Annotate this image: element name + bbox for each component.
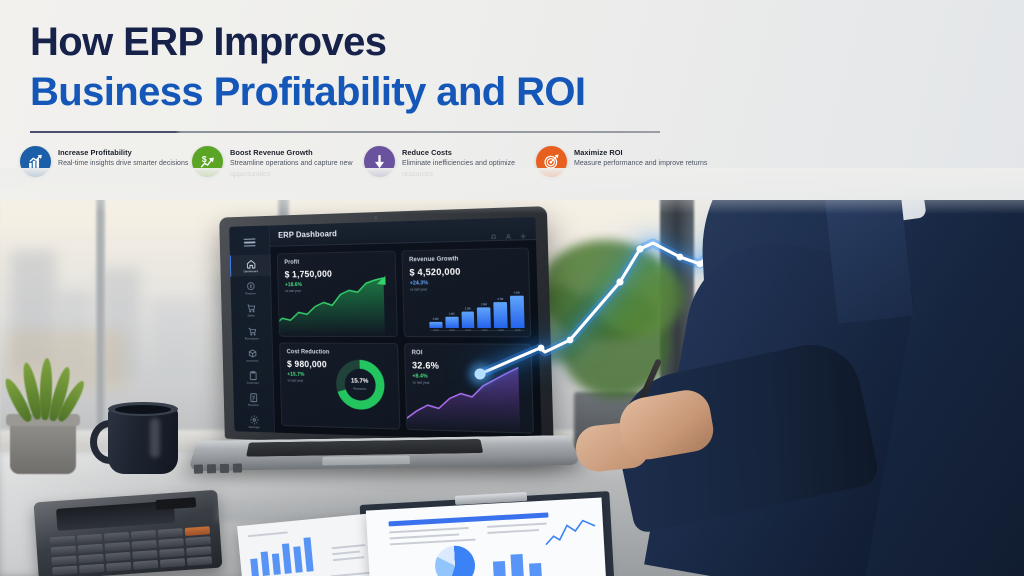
topbar-icons — [490, 225, 526, 232]
sidebar-item-inventory-2[interactable]: Inventory — [233, 366, 273, 388]
bar-value-label: 2.3M — [465, 308, 471, 311]
bar-value-label: 4.5M — [514, 292, 520, 295]
bar — [477, 308, 491, 328]
user-icon[interactable] — [505, 226, 511, 232]
bar-category-label: 2021 — [449, 329, 455, 332]
gear-icon — [249, 414, 259, 425]
bar — [494, 302, 508, 328]
sidebar-item-dashboard[interactable]: Dashboard — [229, 255, 271, 277]
sidebar-item-finance[interactable]: Finance — [230, 277, 270, 299]
skyline-blob — [150, 300, 202, 384]
headline-line-2: Business Profitability and ROI — [30, 70, 585, 114]
sidebar-item-inventory[interactable]: Inventory — [232, 344, 272, 366]
bar-group: 0.9M2020 — [428, 283, 442, 332]
calculator — [34, 490, 223, 576]
kpi-card-cost-reduction[interactable]: Cost Reduction $ 980,000 +15.7% vs last … — [279, 343, 400, 430]
sidebar-item-reports[interactable]: Reports — [233, 388, 273, 410]
bar-group: 2.9M2023 — [477, 283, 492, 333]
clipboard-icon — [248, 370, 258, 381]
kpi-card-profit[interactable]: Profit $ 1,750,000 +18.6% vs last year — [277, 251, 398, 337]
laptop: Dashboard Finance Sales Purchase — [198, 212, 570, 512]
revenue-growth-bar-chart: 0.9M20201.6M20212.3M20222.9M20233.7M2024… — [428, 282, 524, 332]
sidebar-item-settings[interactable]: Settings — [234, 410, 274, 432]
bar — [510, 296, 524, 328]
sidebar-label: Settings — [249, 426, 260, 429]
donut-percent: 15.7% — [351, 379, 369, 386]
report-icon — [248, 392, 258, 403]
header-bottom-fade — [0, 168, 1024, 214]
dashboard-sidebar: Dashboard Finance Sales Purchase — [229, 226, 275, 433]
bar-group: 1.6M2021 — [444, 283, 458, 332]
coin-icon — [245, 281, 255, 292]
feature-title: Boost Revenue Growth — [230, 147, 364, 158]
sidebar-label: Inventory — [247, 381, 259, 384]
donut-label: Reduction — [351, 386, 369, 390]
sidebar-label: Inventory — [246, 359, 258, 362]
home-icon — [246, 259, 256, 270]
kpi-card-roi[interactable]: ROI 32.6% +8.4% vs last year — [403, 343, 534, 434]
mug-highlight — [150, 418, 160, 458]
sidebar-label: Sales — [247, 315, 255, 318]
kpi-card-grid: Profit $ 1,750,000 +18.6% vs last year — [270, 240, 542, 441]
sidebar-item-sales[interactable]: Sales — [231, 299, 271, 320]
gear-icon[interactable] — [520, 225, 527, 231]
roi-sparkline-chart — [403, 364, 532, 433]
erp-dashboard-app: Dashboard Finance Sales Purchase — [229, 217, 542, 441]
bar-value-label: 0.9M — [433, 318, 439, 321]
laptop-ports — [194, 463, 250, 476]
cost-reduction-donut-chart: 15.7% Reduction — [335, 360, 385, 411]
card-title: ROI — [412, 350, 524, 357]
feature-title: Maximize ROI — [574, 147, 707, 158]
card-title: Revenue Growth — [409, 255, 521, 263]
bar-category-label: 2024 — [498, 329, 504, 332]
report-paper-right — [366, 497, 606, 576]
sidebar-label: Reports — [248, 404, 258, 407]
laptop-trackpad[interactable] — [322, 455, 410, 465]
bar — [461, 312, 475, 328]
coffee-mug — [108, 408, 178, 474]
bar-group: 2.3M2022 — [460, 283, 475, 332]
laptop-keyboard[interactable] — [246, 439, 483, 457]
bar-category-label: 2022 — [465, 329, 471, 332]
sidebar-item-purchases[interactable]: Purchases — [232, 322, 272, 343]
bar-group: 3.7M2024 — [493, 282, 508, 332]
card-title: Cost Reduction — [287, 349, 390, 356]
feature-title: Reduce Costs — [402, 147, 536, 158]
bar-value-label: 2.9M — [481, 304, 487, 307]
dashboard-main: ERP Dashboard Profit $ 1,750, — [270, 217, 542, 441]
feature-title: Increase Profitability — [58, 147, 188, 158]
headline-line-1: How ERP Improves — [30, 20, 386, 64]
box-icon — [247, 348, 257, 359]
hamburger-menu-icon[interactable] — [243, 239, 255, 247]
bar — [429, 322, 442, 328]
laptop-screen: Dashboard Finance Sales Purchase — [229, 217, 542, 441]
donut-center-text: 15.7% Reduction — [351, 379, 369, 391]
calculator-keypad — [50, 526, 212, 575]
sidebar-label: Dashboard — [244, 270, 259, 273]
erp-infographic-screenshot: Dashboard Finance Sales Purchase — [0, 0, 1024, 576]
laptop-lid: Dashboard Finance Sales Purchase — [219, 206, 554, 450]
header-panel: How ERP Improves Business Profitability … — [0, 0, 1024, 200]
bar-category-label: 2023 — [482, 329, 488, 332]
bar-value-label: 3.7M — [497, 298, 503, 301]
bar-category-label: 2020 — [433, 329, 439, 332]
card-title: Profit — [284, 258, 387, 266]
bar-category-label: 2025 — [515, 329, 521, 332]
card-value: $ 4,520,000 — [409, 265, 521, 277]
bar-value-label: 1.6M — [449, 313, 455, 316]
header-divider — [30, 131, 660, 133]
bell-icon[interactable] — [490, 226, 496, 232]
mug-interior — [115, 405, 171, 414]
sidebar-label: Finance — [245, 293, 256, 296]
cart-icon — [246, 326, 256, 337]
calculator-solar-panel — [156, 497, 197, 510]
profit-sparkline-chart — [277, 274, 397, 336]
paper-line-chart — [543, 516, 599, 551]
bar-group: 4.5M2025 — [510, 282, 525, 332]
webcam-icon — [373, 216, 376, 219]
sidebar-label: Purchases — [245, 337, 259, 340]
plant-pot-left — [10, 418, 76, 474]
cart-icon — [246, 303, 256, 314]
kpi-card-revenue-growth[interactable]: Revenue Growth $ 4,520,000 +24.3% vs las… — [401, 248, 531, 338]
page-title: ERP Dashboard — [278, 229, 337, 240]
bar — [445, 317, 458, 328]
